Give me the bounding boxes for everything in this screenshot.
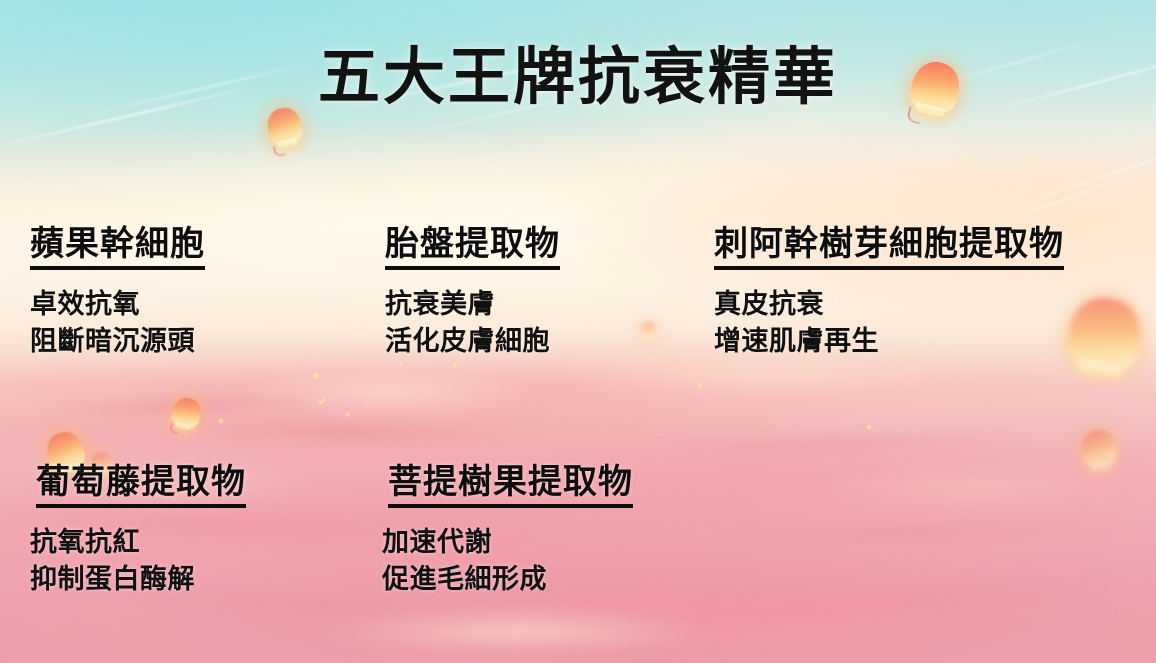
ingredient-name-2: 胎盤提取物 — [385, 224, 560, 270]
benefit-line: 卓效抗氧 — [30, 287, 205, 322]
benefit-line: 抗衰美膚 — [385, 287, 560, 322]
benefit-line: 活化皮膚細胞 — [385, 324, 560, 359]
slide-canvas: 五大王牌抗衰精華 蘋果幹細胞 卓效抗氧 阻斷暗沉源頭 胎盤提取物 抗衰美膚 活化… — [0, 0, 1156, 663]
ingredient-name-1: 蘋果幹細胞 — [30, 224, 205, 270]
ingredient-name-4: 葡萄藤提取物 — [36, 462, 246, 508]
ingredient-card-1: 蘋果幹細胞 卓效抗氧 阻斷暗沉源頭 — [30, 224, 205, 361]
benefit-line: 加速代謝 — [382, 525, 633, 560]
benefit-line: 促進毛細形成 — [382, 562, 633, 597]
ingredient-benefits-4: 抗氧抗紅 抑制蛋白酶解 — [30, 525, 246, 597]
benefit-line: 抗氧抗紅 — [30, 525, 246, 560]
benefit-line: 抑制蛋白酶解 — [30, 562, 246, 597]
ingredient-card-2: 胎盤提取物 抗衰美膚 活化皮膚細胞 — [385, 224, 560, 361]
ingredient-benefits-5: 加速代謝 促進毛細形成 — [382, 525, 633, 597]
ingredient-benefits-2: 抗衰美膚 活化皮膚細胞 — [385, 287, 560, 359]
benefit-line: 阻斷暗沉源頭 — [30, 324, 205, 359]
ingredient-card-3: 刺阿幹樹芽細胞提取物 真皮抗衰 增速肌膚再生 — [714, 224, 1064, 361]
ingredient-name-3: 刺阿幹樹芽細胞提取物 — [714, 224, 1064, 270]
ingredient-benefits-1: 卓效抗氧 阻斷暗沉源頭 — [30, 287, 205, 359]
ingredient-card-4: 葡萄藤提取物 抗氧抗紅 抑制蛋白酶解 — [36, 462, 246, 599]
benefit-line: 增速肌膚再生 — [714, 324, 1064, 359]
ingredient-card-5: 菩提樹果提取物 加速代謝 促進毛細形成 — [388, 462, 633, 599]
benefit-line: 真皮抗衰 — [714, 287, 1064, 322]
page-title: 五大王牌抗衰精華 — [0, 47, 1156, 109]
ingredient-benefits-3: 真皮抗衰 增速肌膚再生 — [714, 287, 1064, 359]
ingredient-name-5: 菩提樹果提取物 — [388, 462, 633, 508]
